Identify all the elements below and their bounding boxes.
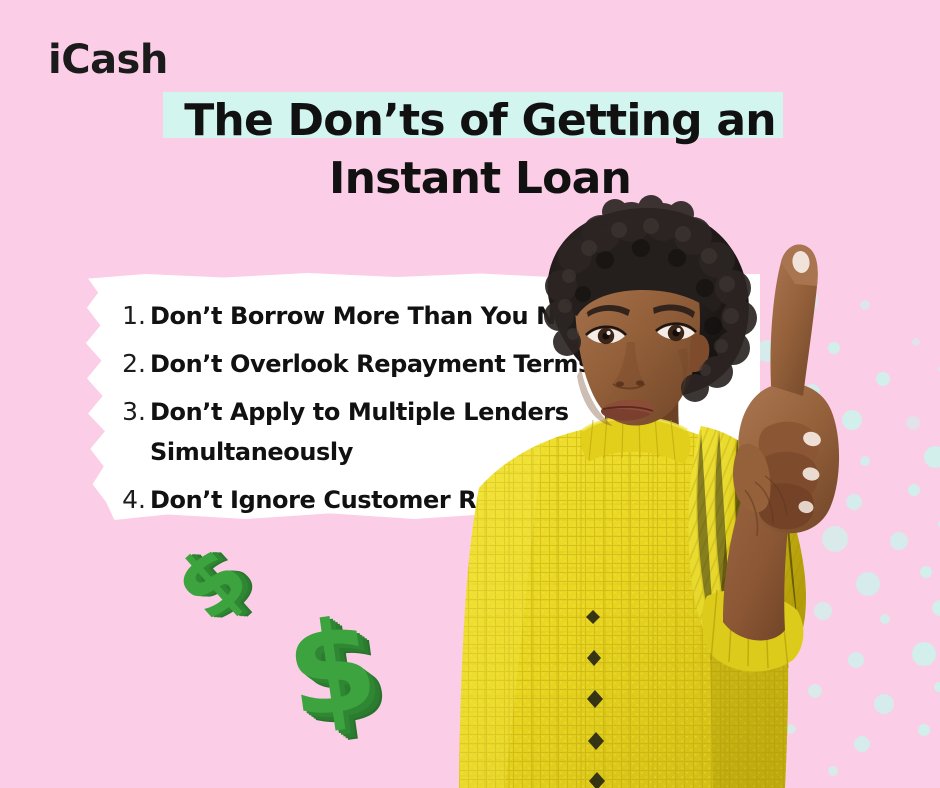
polka-dot: [804, 384, 820, 400]
polka-dot: [934, 682, 940, 692]
polka-dot: [780, 644, 790, 654]
list-item: 1. Don’t Borrow More Than You Need: [120, 296, 640, 336]
list-item-line-2: Simultaneously: [150, 432, 569, 472]
polka-dot: [842, 410, 862, 430]
list-item-label: Don’t Overlook Repayment Terms: [146, 344, 592, 384]
polka-dot: [756, 530, 768, 542]
polka-dot: [748, 610, 760, 622]
tips-list: 1. Don’t Borrow More Than You Need 2. Do…: [120, 296, 640, 528]
polka-dot: [642, 642, 654, 654]
polka-dot: [924, 446, 940, 468]
polka-dot: [856, 572, 880, 596]
polka-dot: [720, 568, 738, 586]
list-item: 3. Don’t Apply to Multiple Lenders Simul…: [120, 392, 640, 472]
polka-dot: [670, 684, 688, 702]
list-item-line-1: Don’t Apply to Multiple Lenders: [150, 398, 569, 426]
polka-dot: [912, 642, 936, 666]
polka-dot: [788, 564, 802, 578]
polka-dot: [766, 418, 778, 430]
polka-dot: [792, 288, 818, 314]
list-item-label: Don’t Apply to Multiple Lenders Simultan…: [146, 392, 569, 472]
headline-line-2: Instant Loan: [120, 150, 840, 208]
polka-dot: [678, 604, 702, 628]
dollar-sign-icon-small: $: [161, 531, 263, 635]
polka-dot: [718, 732, 738, 752]
polka-dot: [890, 532, 908, 550]
list-item-line-1: Don’t Borrow More Than You Need: [150, 302, 604, 330]
polka-dot: [920, 566, 932, 578]
list-item-label: Don’t Ignore Customer Reviews: [146, 480, 567, 520]
polka-dot: [854, 736, 870, 752]
polka-dot: [756, 772, 774, 788]
polka-dot: [860, 456, 870, 466]
list-item: 4. Don’t Ignore Customer Reviews: [120, 480, 640, 520]
polka-dot: [860, 300, 870, 310]
polka-dot: [648, 726, 662, 740]
polka-dot: [908, 484, 920, 496]
list-item-number: 4.: [120, 480, 146, 520]
list-item-line-1: Don’t Overlook Repayment Terms: [150, 350, 592, 378]
polka-dot: [774, 486, 798, 510]
list-item-label: Don’t Borrow More Than You Need: [146, 296, 604, 336]
polka-dot: [822, 526, 848, 552]
polka-dot: [876, 372, 890, 386]
polka-dot: [808, 684, 822, 698]
polka-dot: [828, 766, 838, 776]
polka-dot: [912, 338, 920, 346]
polka-dot: [932, 600, 940, 616]
polka-dot: [710, 650, 732, 672]
polka-dot: [906, 416, 920, 430]
polka-dot: [796, 450, 814, 468]
poster-canvas: iCash The Don’ts of Getting an Instant L…: [0, 0, 940, 788]
polka-dot: [880, 614, 890, 624]
polka-dot: [650, 562, 660, 572]
list-item-number: 1.: [120, 296, 146, 336]
polka-dot: [828, 342, 840, 354]
list-item-number: 2.: [120, 344, 146, 384]
polka-dot: [846, 494, 862, 510]
polka-dot: [814, 602, 832, 620]
headline-line-1: The Don’ts of Getting an: [120, 92, 840, 150]
list-item-line-1: Don’t Ignore Customer Reviews: [150, 486, 567, 514]
polka-dot: [684, 766, 696, 778]
polka-dot: [848, 652, 864, 668]
polka-dot: [786, 724, 796, 734]
list-item: 2. Don’t Overlook Repayment Terms: [120, 344, 640, 384]
brand-logo[interactable]: iCash: [48, 40, 168, 80]
page-title: The Don’ts of Getting an Instant Loan: [120, 92, 840, 208]
list-item-number: 3.: [120, 392, 146, 432]
polka-dot: [874, 694, 894, 714]
polka-dot: [740, 692, 750, 702]
headline-block: The Don’ts of Getting an Instant Loan: [120, 92, 840, 208]
dollar-sign-icon-large: $: [280, 601, 384, 738]
polka-dot: [918, 724, 930, 736]
polka-dot: [688, 524, 708, 544]
